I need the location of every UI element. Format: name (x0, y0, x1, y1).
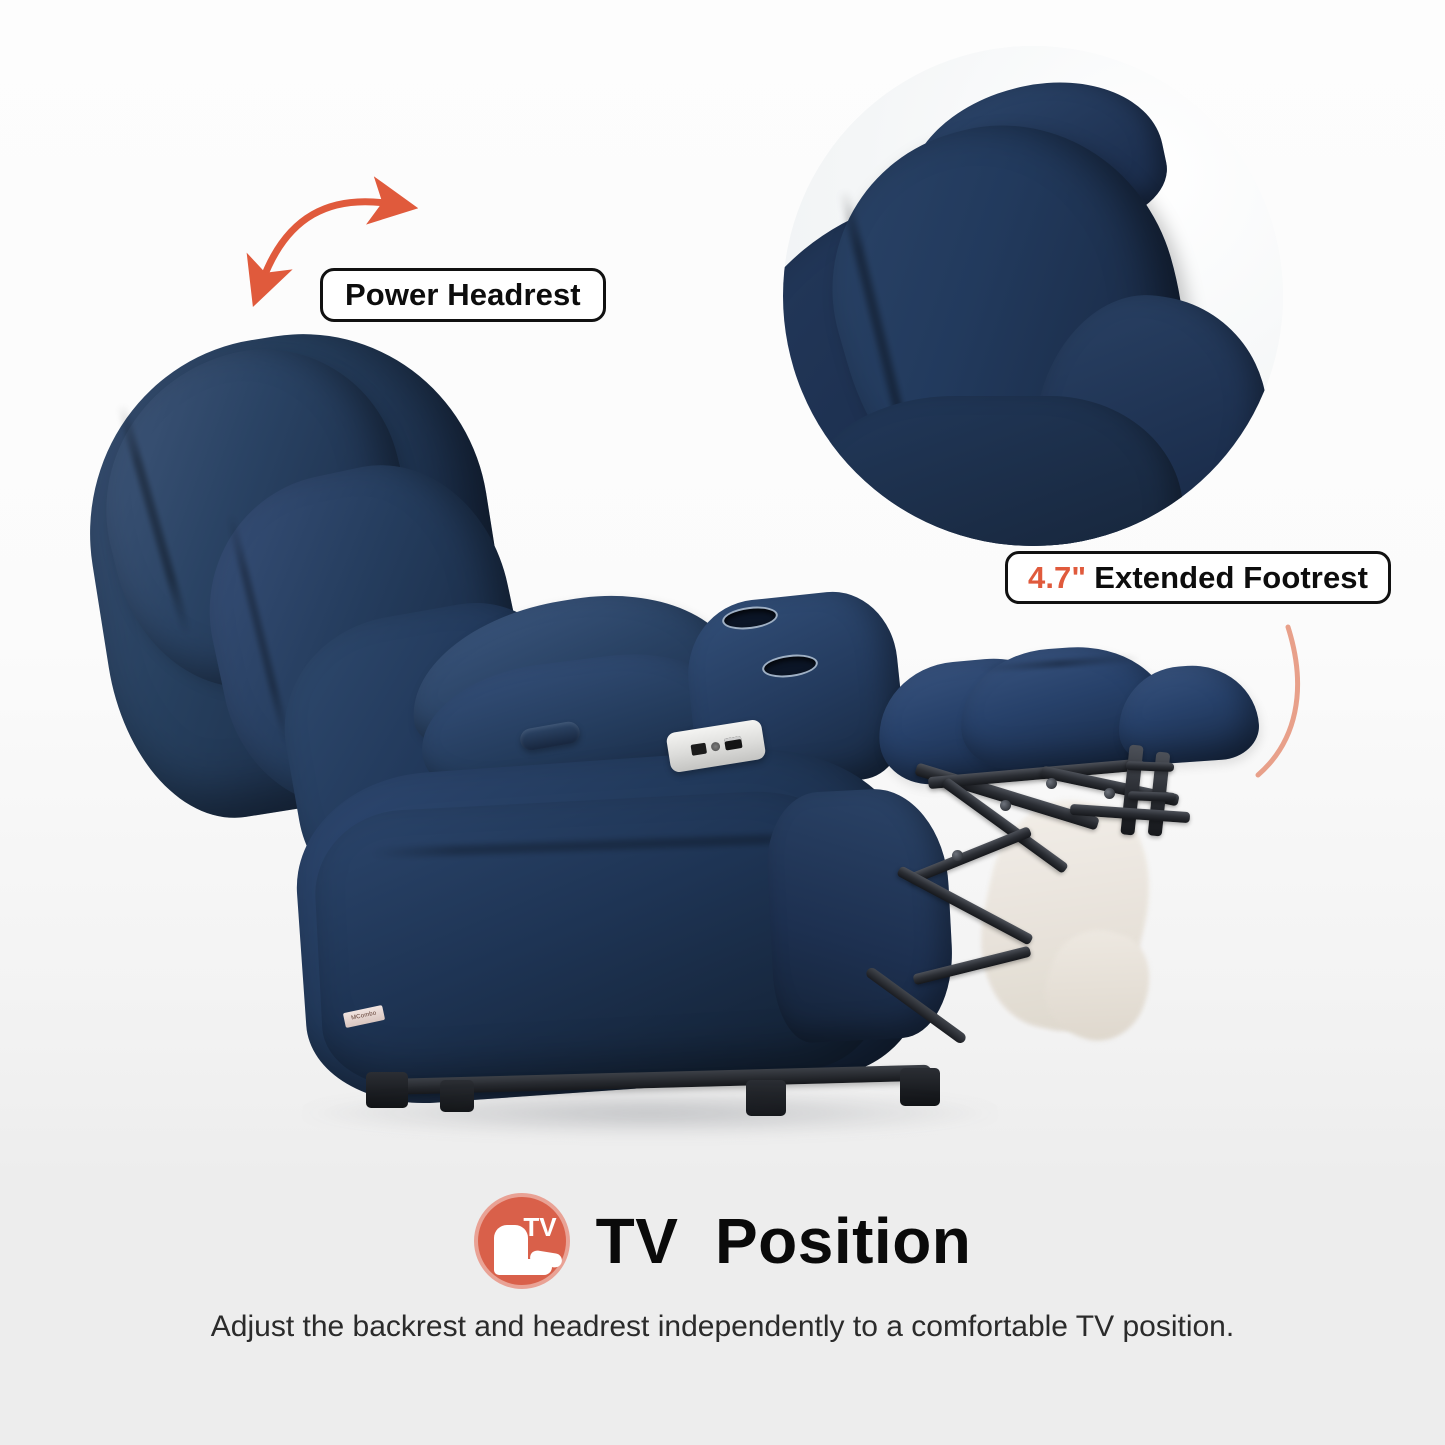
linkage-pivot-3 (1000, 800, 1011, 811)
linkage-rung-2 (1128, 791, 1176, 802)
linkage-pivot-4 (952, 850, 963, 861)
linkage-pivot-2 (1104, 788, 1115, 799)
product-feature-image: MCombo (0, 0, 1445, 1445)
footer-section: TV TV Position Adjust the backrest and h… (0, 1175, 1445, 1445)
callout-footrest-measure: 4.7" (1028, 560, 1086, 596)
title-row: TV TV Position (0, 1193, 1445, 1289)
linkage-rung-1 (1126, 761, 1174, 772)
photo-stage: MCombo (0, 0, 1445, 1175)
callout-power-headrest-text: Power Headrest (345, 277, 581, 313)
tv-recliner-icon: TV (474, 1193, 570, 1289)
power-button-icon[interactable] (710, 741, 720, 751)
recline-switch-icon[interactable] (690, 742, 707, 755)
callout-power-headrest: Power Headrest (320, 268, 606, 322)
ground-shadow (300, 1090, 1000, 1136)
page-title: TV Position (596, 1204, 972, 1278)
seat-front-lip (764, 785, 957, 1044)
footer-caption: Adjust the backrest and headrest indepen… (0, 1310, 1445, 1344)
linkage-pivot-1 (1046, 778, 1057, 789)
tv-badge-label: TV (523, 1214, 556, 1240)
usb-port-icon[interactable] (723, 736, 742, 751)
callout-footrest-text: Extended Footrest (1094, 560, 1368, 596)
callout-extended-footrest: 4.7" Extended Footrest (1005, 551, 1391, 604)
